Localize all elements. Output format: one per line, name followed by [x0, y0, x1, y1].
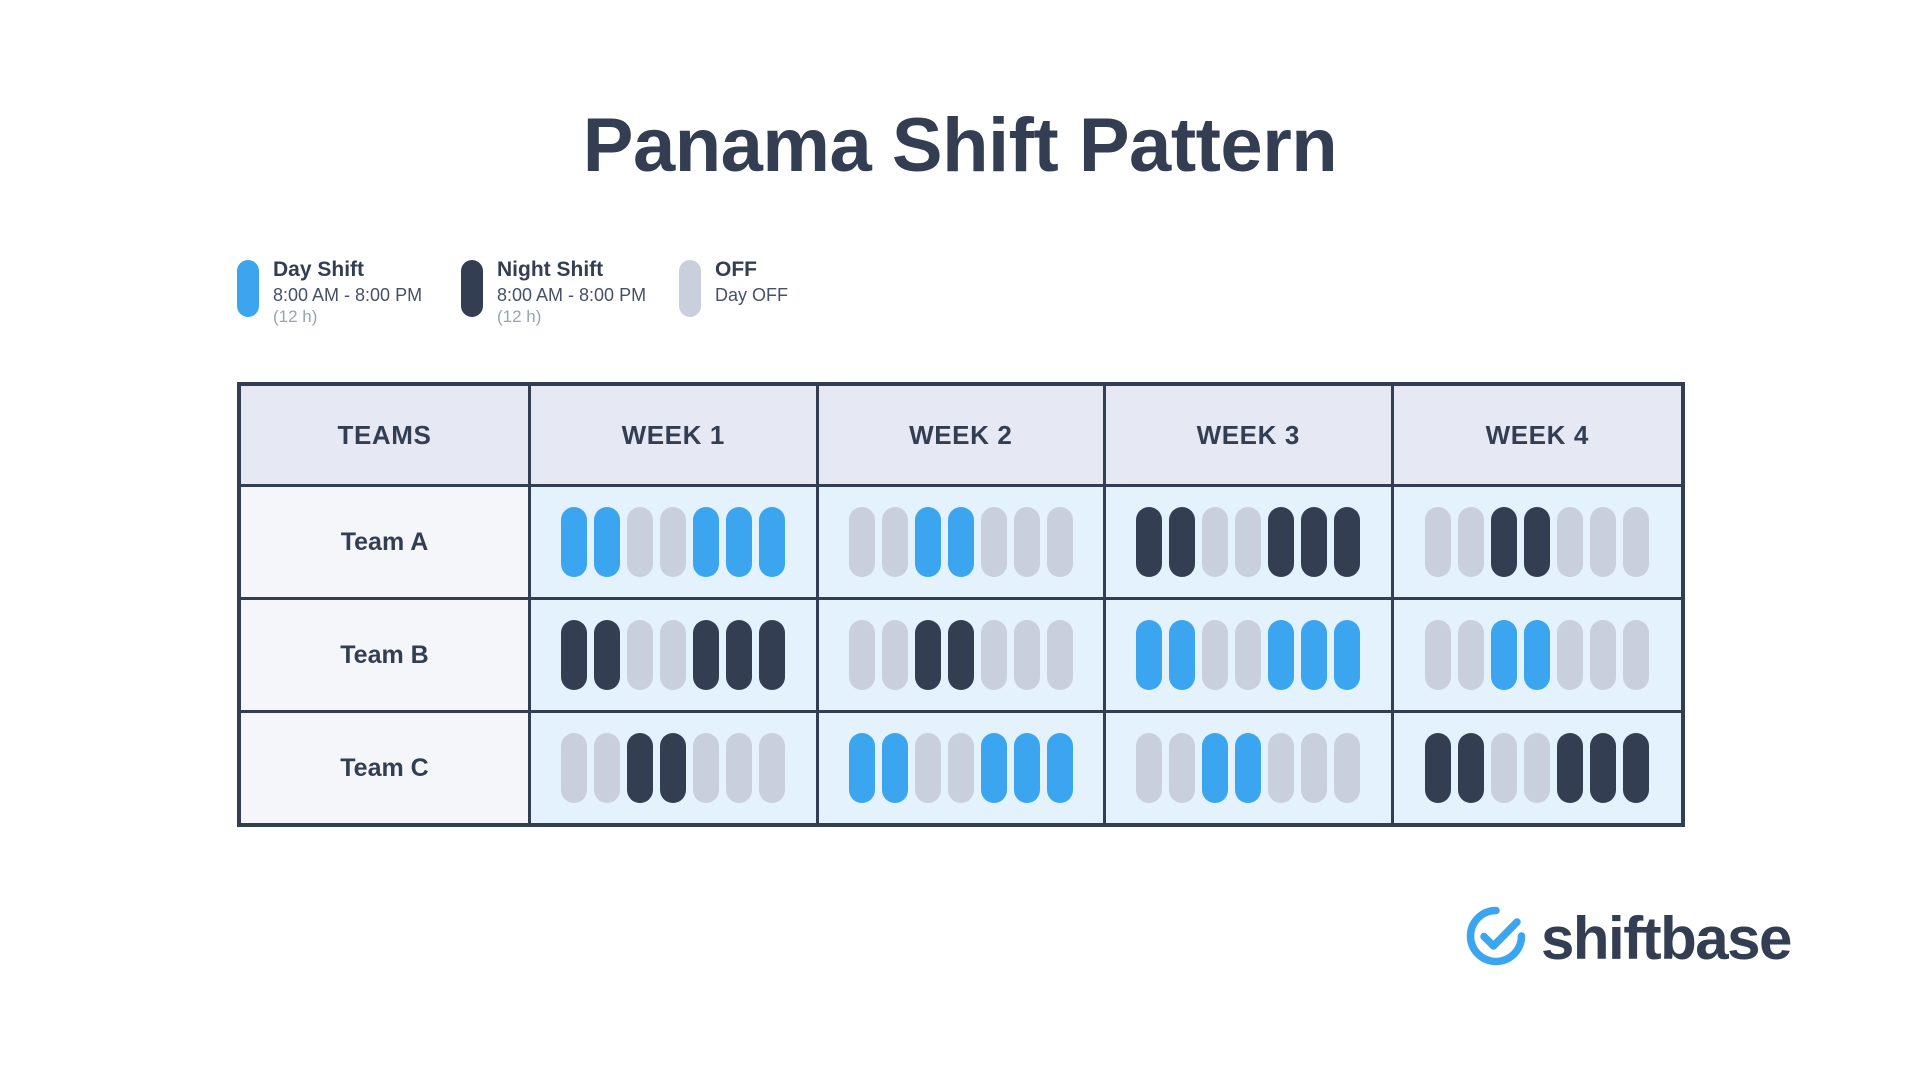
- shift-pill-off: [1557, 507, 1583, 577]
- night-shift-swatch-icon: [461, 260, 483, 317]
- shift-pill-off: [627, 507, 653, 577]
- week-cell: [1394, 713, 1682, 823]
- shift-pill-off: [1458, 620, 1484, 690]
- shift-pill-off: [1169, 733, 1195, 803]
- shift-pill-night: [1491, 507, 1517, 577]
- legend-item-time: 8:00 AM - 8:00 PM: [273, 285, 422, 306]
- shift-pill-off: [1491, 733, 1517, 803]
- shift-pill-day: [1524, 620, 1550, 690]
- legend-item-text: Day Shift8:00 AM - 8:00 PM(12 h): [273, 258, 422, 327]
- shift-pill-night: [1268, 507, 1294, 577]
- week-cell: [1394, 487, 1682, 600]
- legend-item-duration: (12 h): [273, 307, 422, 327]
- table-header-cell-week-1: WEEK 1: [531, 386, 819, 487]
- legend-item-night-shift: Night Shift8:00 AM - 8:00 PM(12 h): [461, 258, 651, 327]
- shift-pill-row: [819, 600, 1104, 710]
- shift-pill-day: [1491, 620, 1517, 690]
- week-cell: [819, 600, 1107, 713]
- shift-pill-day: [915, 507, 941, 577]
- week-cell: [1106, 600, 1394, 713]
- shift-pill-off: [660, 620, 686, 690]
- legend-item-day-shift: Day Shift8:00 AM - 8:00 PM(12 h): [237, 258, 433, 327]
- shift-pill-day: [726, 507, 752, 577]
- shift-pill-row: [531, 713, 816, 823]
- shift-pill-off: [882, 507, 908, 577]
- shift-pill-off: [849, 507, 875, 577]
- shift-pill-day: [693, 507, 719, 577]
- shift-pill-off: [1458, 507, 1484, 577]
- team-name-cell: Team B: [241, 600, 531, 713]
- shift-pill-off: [1590, 620, 1616, 690]
- shift-pill-night: [693, 620, 719, 690]
- shift-pill-off: [1590, 507, 1616, 577]
- shift-pill-off: [1524, 733, 1550, 803]
- shift-pill-night: [1623, 733, 1649, 803]
- circle-check-icon: [1465, 905, 1527, 972]
- page-title: Panama Shift Pattern: [0, 108, 1920, 184]
- shift-pill-off: [1235, 507, 1261, 577]
- legend-item-name: OFF: [715, 258, 788, 283]
- shift-pill-off: [594, 733, 620, 803]
- shift-pill-row: [1106, 713, 1391, 823]
- table-row: Team C: [241, 713, 1681, 823]
- shift-pill-off: [981, 507, 1007, 577]
- shift-pill-off: [1334, 733, 1360, 803]
- shift-pill-off: [981, 620, 1007, 690]
- team-name-cell: Team A: [241, 487, 531, 600]
- shift-pill-off: [1014, 507, 1040, 577]
- week-cell: [819, 713, 1107, 823]
- shift-pill-row: [819, 713, 1104, 823]
- shift-pattern-table: TEAMSWEEK 1WEEK 2WEEK 3WEEK 4 Team ATeam…: [237, 382, 1685, 827]
- week-cell: [819, 487, 1107, 600]
- shift-pill-off: [1202, 507, 1228, 577]
- shift-pill-night: [1557, 733, 1583, 803]
- day-shift-swatch-icon: [237, 260, 259, 317]
- shift-pill-day: [1235, 733, 1261, 803]
- shift-pill-night: [1169, 507, 1195, 577]
- shift-pill-off: [627, 620, 653, 690]
- shift-pill-off: [1202, 620, 1228, 690]
- table-row: Team A: [241, 487, 1681, 600]
- legend-item-time: 8:00 AM - 8:00 PM: [497, 285, 646, 306]
- shift-pill-row: [1394, 713, 1682, 823]
- table-header-row: TEAMSWEEK 1WEEK 2WEEK 3WEEK 4: [241, 386, 1681, 487]
- legend-item-time: Day OFF: [715, 285, 788, 306]
- legend-item-duration: (12 h): [497, 307, 646, 327]
- shift-pill-off: [948, 733, 974, 803]
- legend-item-name: Night Shift: [497, 258, 646, 283]
- shift-pill-day: [1268, 620, 1294, 690]
- shift-pill-night: [1425, 733, 1451, 803]
- shift-pill-off: [1136, 733, 1162, 803]
- shift-pill-day: [1136, 620, 1162, 690]
- shift-pill-night: [759, 620, 785, 690]
- shift-pill-off: [1014, 620, 1040, 690]
- shift-pill-row: [531, 487, 816, 597]
- off-swatch-icon: [679, 260, 701, 317]
- shift-pill-night: [948, 620, 974, 690]
- shift-pill-off: [1425, 507, 1451, 577]
- shift-pill-night: [561, 620, 587, 690]
- shift-pill-night: [1458, 733, 1484, 803]
- shift-pill-row: [819, 487, 1104, 597]
- week-cell: [531, 487, 819, 600]
- week-cell: [1106, 713, 1394, 823]
- table-header-cell-week-2: WEEK 2: [819, 386, 1107, 487]
- shift-pill-row: [1106, 487, 1391, 597]
- shift-pill-off: [726, 733, 752, 803]
- shift-pill-row: [531, 600, 816, 710]
- table-header-cell-week-4: WEEK 4: [1394, 386, 1682, 487]
- shift-pill-off: [1623, 507, 1649, 577]
- shift-pill-row: [1394, 600, 1682, 710]
- shift-pill-off: [660, 507, 686, 577]
- team-name-cell: Team C: [241, 713, 531, 823]
- legend-item-off: OFFDay OFF: [679, 258, 788, 317]
- shift-pill-off: [1235, 620, 1261, 690]
- table-header: TEAMSWEEK 1WEEK 2WEEK 3WEEK 4: [241, 386, 1681, 487]
- week-cell: [531, 713, 819, 823]
- shift-pill-off: [693, 733, 719, 803]
- shift-pill-row: [1106, 600, 1391, 710]
- shift-pill-off: [759, 733, 785, 803]
- shift-pill-off: [561, 733, 587, 803]
- shift-pill-off: [882, 620, 908, 690]
- week-cell: [1106, 487, 1394, 600]
- legend: Day Shift8:00 AM - 8:00 PM(12 h)Night Sh…: [237, 258, 816, 327]
- week-cell: [1394, 600, 1682, 713]
- shift-pill-off: [915, 733, 941, 803]
- shift-pill-off: [1047, 507, 1073, 577]
- shift-pill-day: [1047, 733, 1073, 803]
- table-row: Team B: [241, 600, 1681, 713]
- shift-pill-night: [1524, 507, 1550, 577]
- shift-pill-night: [1590, 733, 1616, 803]
- shift-pill-day: [849, 733, 875, 803]
- shift-pill-off: [1047, 620, 1073, 690]
- shift-pill-day: [594, 507, 620, 577]
- shift-pill-day: [882, 733, 908, 803]
- shift-pill-off: [1301, 733, 1327, 803]
- shift-pill-night: [915, 620, 941, 690]
- legend-item-name: Day Shift: [273, 258, 422, 283]
- brand-wordmark: shiftbase: [1541, 909, 1791, 969]
- shift-pill-day: [759, 507, 785, 577]
- shift-pill-day: [981, 733, 1007, 803]
- table-body: Team ATeam BTeam C: [241, 487, 1681, 823]
- shift-pill-off: [1425, 620, 1451, 690]
- shift-pill-night: [660, 733, 686, 803]
- shift-pill-day: [561, 507, 587, 577]
- shift-pill-day: [1301, 620, 1327, 690]
- shift-pill-row: [1394, 487, 1682, 597]
- shift-pill-night: [627, 733, 653, 803]
- week-cell: [531, 600, 819, 713]
- shift-pill-off: [1557, 620, 1583, 690]
- shift-pill-night: [1301, 507, 1327, 577]
- shift-pill-night: [594, 620, 620, 690]
- shift-pill-night: [726, 620, 752, 690]
- table-header-cell-teams: TEAMS: [241, 386, 531, 487]
- shift-pill-night: [1334, 507, 1360, 577]
- shift-pill-day: [1014, 733, 1040, 803]
- shift-pill-off: [849, 620, 875, 690]
- table-header-cell-week-3: WEEK 3: [1106, 386, 1394, 487]
- legend-item-text: OFFDay OFF: [715, 258, 788, 306]
- legend-item-text: Night Shift8:00 AM - 8:00 PM(12 h): [497, 258, 646, 327]
- shift-pill-day: [1334, 620, 1360, 690]
- shift-pill-day: [1169, 620, 1195, 690]
- shift-pill-day: [948, 507, 974, 577]
- shift-pill-off: [1623, 620, 1649, 690]
- shift-pill-day: [1202, 733, 1228, 803]
- shiftbase-logo: shiftbase: [1465, 905, 1791, 972]
- shift-pill-off: [1268, 733, 1294, 803]
- shift-pill-night: [1136, 507, 1162, 577]
